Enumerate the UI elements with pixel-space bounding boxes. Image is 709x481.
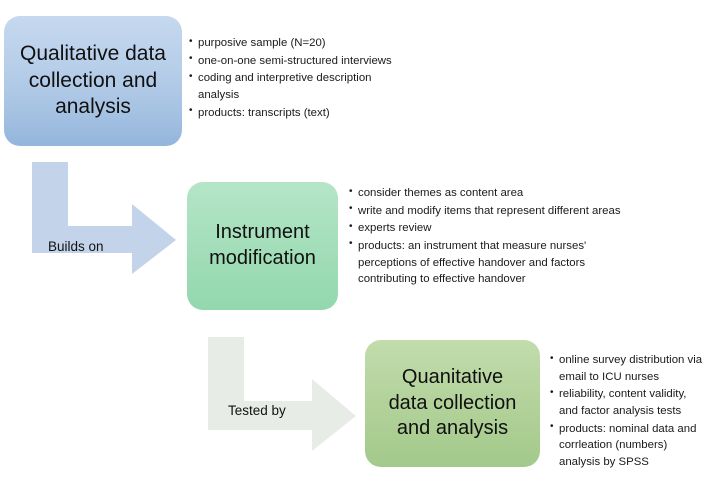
list-item: coding and interpretive description anal… [189,70,404,103]
bullet-list-instrument: consider themes as content area write an… [349,185,639,289]
connector-arrow-builds-on [30,160,178,276]
process-box-instrument[interactable]: Instrument modification [187,182,338,310]
list-item: products: an instrument that measure nur… [349,238,639,288]
process-box-quantitative-label: Quanitative data collection and analysis [389,365,517,442]
process-box-qualitative[interactable]: Qualitative data collection and analysis [4,16,182,146]
process-box-qualitative-label: Qualitative data collection and analysis [20,41,166,122]
process-box-quantitative[interactable]: Quanitative data collection and analysis [365,340,540,467]
list-item: products: nominal data and corrleation (… [550,421,705,471]
bullet-list-quantitative: online survey distribution via email to … [550,352,705,471]
list-item: consider themes as content area [349,185,639,202]
list-item: one-on-one semi-structured interviews [189,53,404,70]
flowchart-canvas: Qualitative data collection and analysis… [0,0,709,481]
list-item: reliability, content validity, and facto… [550,386,705,419]
list-item: purposive sample (N=20) [189,35,404,52]
connector-label-tested-by: Tested by [228,403,286,418]
process-box-instrument-label: Instrument modification [209,220,316,271]
connector-label-builds-on: Builds on [48,239,104,254]
list-item: online survey distribution via email to … [550,352,705,385]
list-item: experts review [349,220,639,237]
list-item: products: transcripts (text) [189,105,404,122]
list-item: write and modify items that represent di… [349,203,639,220]
bullet-list-qualitative: purposive sample (N=20) one-on-one semi-… [189,35,404,122]
connector-arrow-tested-by [206,335,358,455]
